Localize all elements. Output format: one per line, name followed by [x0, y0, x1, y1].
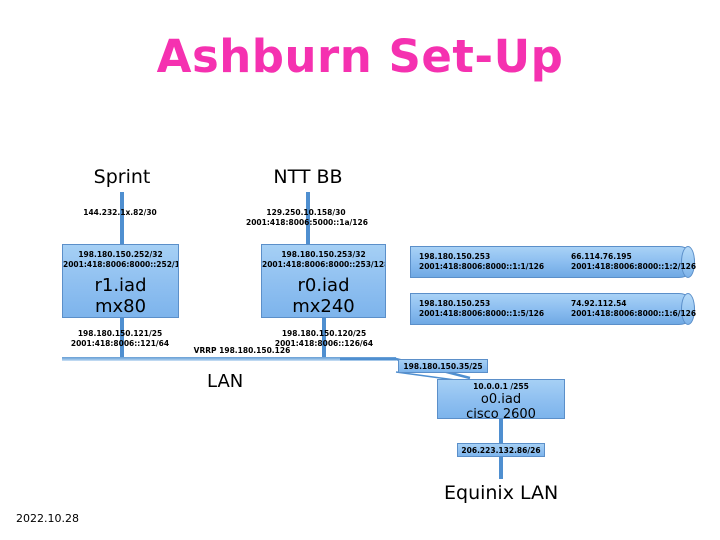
lan-bus-bar — [62, 357, 396, 361]
r1-lan-v4: 198.180.150.121/25 — [62, 329, 178, 339]
sprint-uplink-ipv4: 144.232.1x.82/30 — [62, 208, 178, 218]
r1-lan-v6: 2001:418:8006::121/64 — [62, 339, 178, 349]
r0-lan-v4: 198.180.150.120/25 — [264, 329, 384, 339]
peering-1-local-v4: 198.180.150.253 — [419, 252, 490, 262]
r0-loopback-v6: 2001:418:8006:8000::253/128 — [262, 260, 385, 270]
o0-model: cisco 2600 — [438, 407, 564, 420]
peering-cylinder-2[interactable]: 198.180.150.253 2001:418:8006:8000::1:5/… — [410, 293, 695, 325]
o0-downlink-line-lower — [499, 457, 503, 479]
oob-lan-chip[interactable]: 198.180.150.35/25 — [398, 359, 488, 373]
slide-canvas: Ashburn Set-Up Sprint 144.232.1x.82/30 1… — [0, 0, 720, 540]
equinix-lan-label: Equinix LAN — [444, 482, 558, 504]
r0-hostname: r0.iad — [262, 275, 385, 296]
provider-label-ntt: NTT BB — [228, 166, 388, 188]
peering-2-remote-v6: 2001:418:8006:8000::1:6/126 — [571, 309, 696, 319]
oob-downlink-chip[interactable]: 206.223.132.86/26 — [457, 443, 545, 457]
provider-label-sprint: Sprint — [62, 166, 182, 188]
lan-label: LAN — [207, 371, 243, 392]
sprint-uplink-line — [120, 192, 124, 244]
router-box-o0-iad[interactable]: 10.0.0.1 /255 o0.iad cisco 2600 — [437, 379, 565, 419]
peering-1-remote-v6: 2001:418:8006:8000::1:2/126 — [571, 262, 696, 272]
r1-loopback-v4: 198.180.150.252/32 — [63, 250, 178, 260]
peering-1-remote-v4: 66.114.76.195 — [571, 252, 632, 262]
footer-date: 2022.10.28 — [16, 512, 79, 525]
o0-downlink-line-upper — [499, 419, 503, 444]
peering-2-remote-v4: 74.92.112.54 — [571, 299, 627, 309]
peering-2-local-v6: 2001:418:8006:8000::1:5/126 — [419, 309, 544, 319]
r0-loopback-v4: 198.180.150.253/32 — [262, 250, 385, 260]
page-title: Ashburn Set-Up — [0, 34, 720, 79]
o0-mgmt-addr: 10.0.0.1 /255 — [438, 382, 564, 392]
r1-loopback-v6: 2001:418:8006:8000::252/128 — [63, 260, 178, 270]
r1-model: mx80 — [63, 296, 178, 317]
ntt-uplink-ipv6: 2001:418:8006:5000::1a/126 — [246, 218, 366, 228]
peering-2-local-v4: 198.180.150.253 — [419, 299, 490, 309]
ntt-uplink-ipv4: 129.250.10.158/30 — [246, 208, 366, 218]
r1-hostname: r1.iad — [63, 275, 178, 296]
o0-hostname: o0.iad — [438, 392, 564, 407]
peering-1-local-v6: 2001:418:8006:8000::1:1/126 — [419, 262, 544, 272]
router-box-r0-iad[interactable]: 198.180.150.253/32 2001:418:8006:8000::2… — [261, 244, 386, 318]
r0-model: mx240 — [262, 296, 385, 317]
vrrp-label: VRRP 198.180.150.126 — [182, 346, 302, 356]
router-box-r1-iad[interactable]: 198.180.150.252/32 2001:418:8006:8000::2… — [62, 244, 179, 318]
peering-cylinder-1[interactable]: 198.180.150.253 2001:418:8006:8000::1:1/… — [410, 246, 695, 278]
